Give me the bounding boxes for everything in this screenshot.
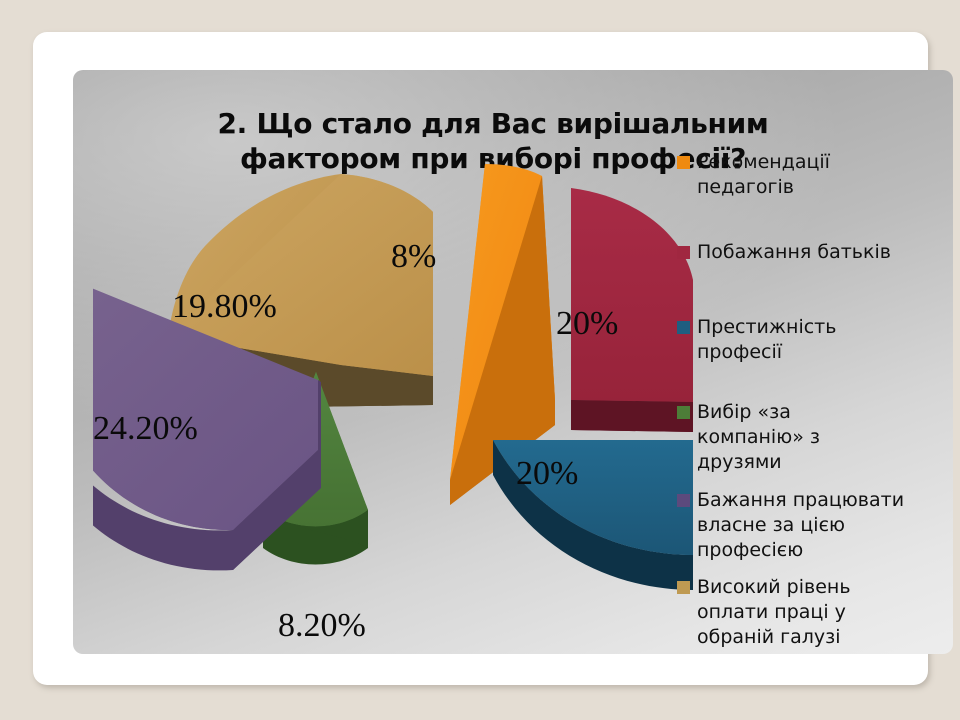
pie-chart-svg: [93, 150, 693, 620]
legend-item-label: Рекомендації педагогів: [697, 150, 830, 200]
pie-label-tan: 19.80%: [172, 288, 277, 326]
legend-swatch-icon: [677, 246, 690, 259]
legend-item-parents-wish[interactable]: Побажання батьків: [677, 240, 891, 265]
legend-item-label: Високий рівень оплати праці у обраній га…: [697, 575, 851, 650]
pie-label-blue: 20%: [516, 455, 578, 493]
legend-swatch-icon: [677, 581, 690, 594]
legend-swatch-icon: [677, 406, 690, 419]
legend-item-label: Вибір «за компанію» з друзями: [697, 400, 820, 475]
legend-item-label: Побажання батьків: [697, 240, 891, 265]
legend-item-with-friends[interactable]: Вибір «за компанію» з друзями: [677, 400, 820, 475]
slide-card: 2. Що стало для Вас вирішальним фактором…: [33, 32, 928, 685]
slide: 2. Що стало для Вас вирішальним фактором…: [0, 0, 960, 720]
legend-item-own-desire[interactable]: Бажання працювати власне за цією професі…: [677, 488, 904, 563]
legend-item-recommendations[interactable]: Рекомендації педагогів: [677, 150, 830, 200]
chart-panel: 2. Що стало для Вас вирішальним фактором…: [73, 70, 953, 654]
pie-label-purple: 24.20%: [93, 410, 198, 448]
legend-item-high-salary[interactable]: Високий рівень оплати праці у обраній га…: [677, 575, 851, 650]
pie-label-green: 8.20%: [278, 607, 366, 645]
legend-swatch-icon: [677, 494, 690, 507]
legend-swatch-icon: [677, 156, 690, 169]
legend-swatch-icon: [677, 321, 690, 334]
legend-item-prestige[interactable]: Престижність професії: [677, 315, 836, 365]
legend-item-label: Бажання працювати власне за цією професі…: [697, 488, 904, 563]
legend-item-label: Престижність професії: [697, 315, 836, 365]
pie-label-red: 20%: [556, 305, 618, 343]
pie-label-orange: 8%: [391, 238, 436, 276]
